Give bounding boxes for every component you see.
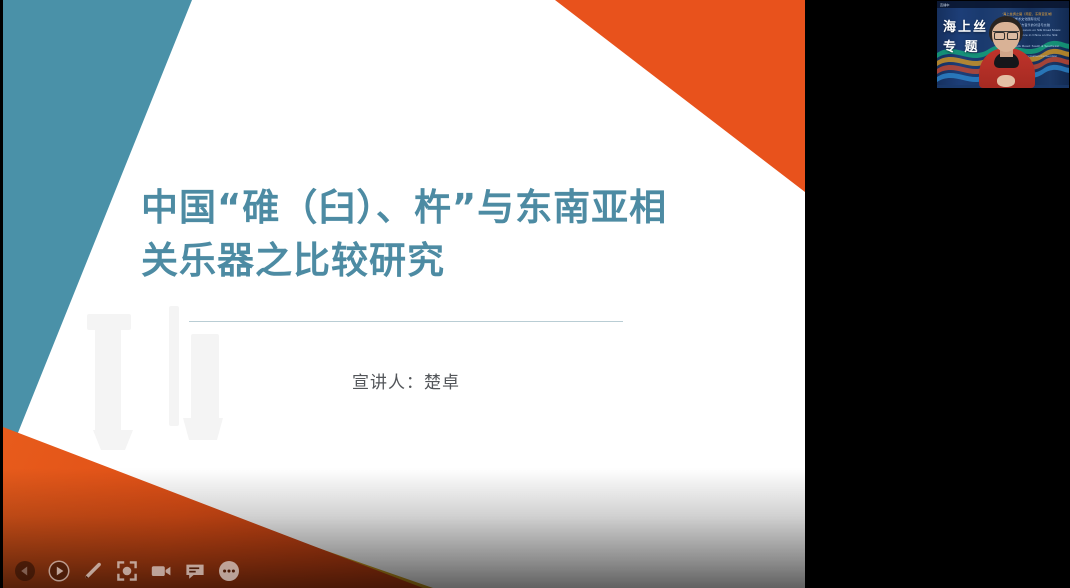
presenter-video-thumbnail[interactable]: 直播中 “海上丝绸之路（南亚、东南亚区域） 音乐舞蹈学术文化国际论坛 ——东方与… [936, 0, 1070, 89]
slide-title: 中国“碓（臼）、杵”与东南亚相关乐器之比较研究 [141, 182, 681, 287]
presenter-glasses [993, 31, 1019, 38]
previous-icon[interactable] [14, 560, 36, 582]
player-control-bar[interactable] [0, 554, 560, 588]
decor-orange-wedge [555, 0, 805, 192]
more-icon[interactable] [218, 560, 240, 582]
glasses-right-lens [1007, 32, 1018, 40]
pencil-icon[interactable] [82, 560, 104, 582]
video-camera-icon[interactable] [150, 560, 172, 582]
presenter-hand [997, 75, 1015, 87]
presenter-figure [977, 14, 1037, 88]
presentation-slide: 中国“碓（臼）、杵”与东南亚相关乐器之比较研究 宣讲人：楚卓 [3, 0, 805, 588]
title-block: 中国“碓（臼）、杵”与东南亚相关乐器之比较研究 [141, 182, 681, 287]
chat-icon[interactable] [184, 560, 206, 582]
slide-subtitle-presenter: 宣讲人：楚卓 [189, 368, 623, 393]
pip-live-badge: 直播中 [940, 3, 950, 7]
pip-status-bar [937, 1, 1069, 8]
play-icon[interactable] [48, 560, 70, 582]
video-player-viewport: 中国“碓（臼）、杵”与东南亚相关乐器之比较研究 宣讲人：楚卓 [0, 0, 1070, 588]
glasses-left-lens [994, 32, 1005, 40]
title-divider-rule [189, 321, 623, 322]
screenshot-icon[interactable] [116, 560, 138, 582]
